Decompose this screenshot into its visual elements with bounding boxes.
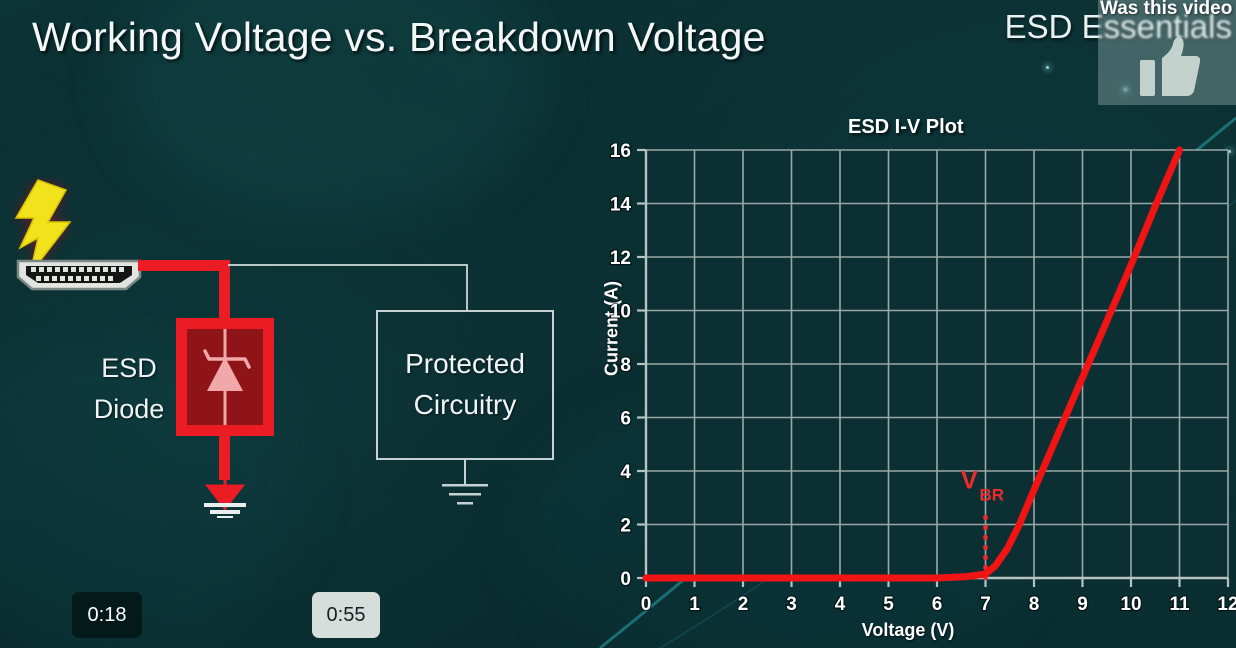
x-tick-label: 12 [1217,594,1236,615]
x-tick-label: 1 [689,594,700,615]
x-tick-label: 8 [1029,594,1040,615]
chart-plot-area: 02468101214160123456789101112VBR [580,108,1236,648]
circuit-diagram: ESD Diode Protected Circuitry [0,170,600,550]
y-tick-label: 8 [620,355,631,376]
x-tick-label: 6 [932,594,943,615]
x-tick-label: 2 [738,594,749,615]
breakdown-voltage-label: V [961,466,978,494]
x-tick-label: 9 [1077,594,1088,615]
esd-diode-block [176,318,274,436]
y-tick-label: 14 [610,195,632,216]
thumbs-up-icon[interactable] [1140,36,1200,98]
wire-surge-vertical [219,260,230,322]
y-tick-label: 12 [610,248,631,269]
y-tick-label: 16 [610,141,631,162]
page-title: Working Voltage vs. Breakdown Voltage [32,14,766,61]
wire-signal-horizontal [228,264,468,266]
y-tick-label: 10 [610,302,631,323]
wire-surge-horizontal [138,260,230,271]
breakdown-voltage-sublabel: BR [980,485,1005,504]
esd-iv-chart: ESD I-V Plot Current (A) Voltage (V) 024… [580,108,1236,648]
protected-circuitry-label: Protected Circuitry [405,344,525,425]
timestamp-total-badge[interactable]: 0:55 [312,592,380,638]
x-tick-label: 7 [980,594,991,615]
x-tick-label: 11 [1169,594,1190,615]
x-tick-label: 4 [835,594,846,615]
spark-dot [1046,66,1049,69]
protected-circuitry-block: Protected Circuitry [376,310,554,460]
x-tick-label: 3 [786,594,797,615]
wire-signal-vertical [466,264,468,312]
y-tick-label: 4 [620,462,631,483]
esd-diode-label: ESD Diode [86,348,172,429]
like-prompt-text: Was this video [1100,0,1232,20]
y-tick-label: 0 [620,569,631,590]
ground-symbol-icon [196,470,254,518]
x-tick-label: 5 [883,594,894,615]
x-tick-label: 10 [1120,594,1141,615]
x-tick-label: 0 [641,594,652,615]
hdmi-connector-icon [14,257,144,293]
y-tick-label: 2 [620,516,631,537]
zener-diode-icon [187,329,263,425]
y-tick-label: 6 [620,409,631,430]
video-frame: Working Voltage vs. Breakdown Voltage ES… [0,0,1236,648]
timestamp-elapsed-badge[interactable]: 0:18 [72,592,142,638]
ground-symbol-icon [442,482,488,512]
